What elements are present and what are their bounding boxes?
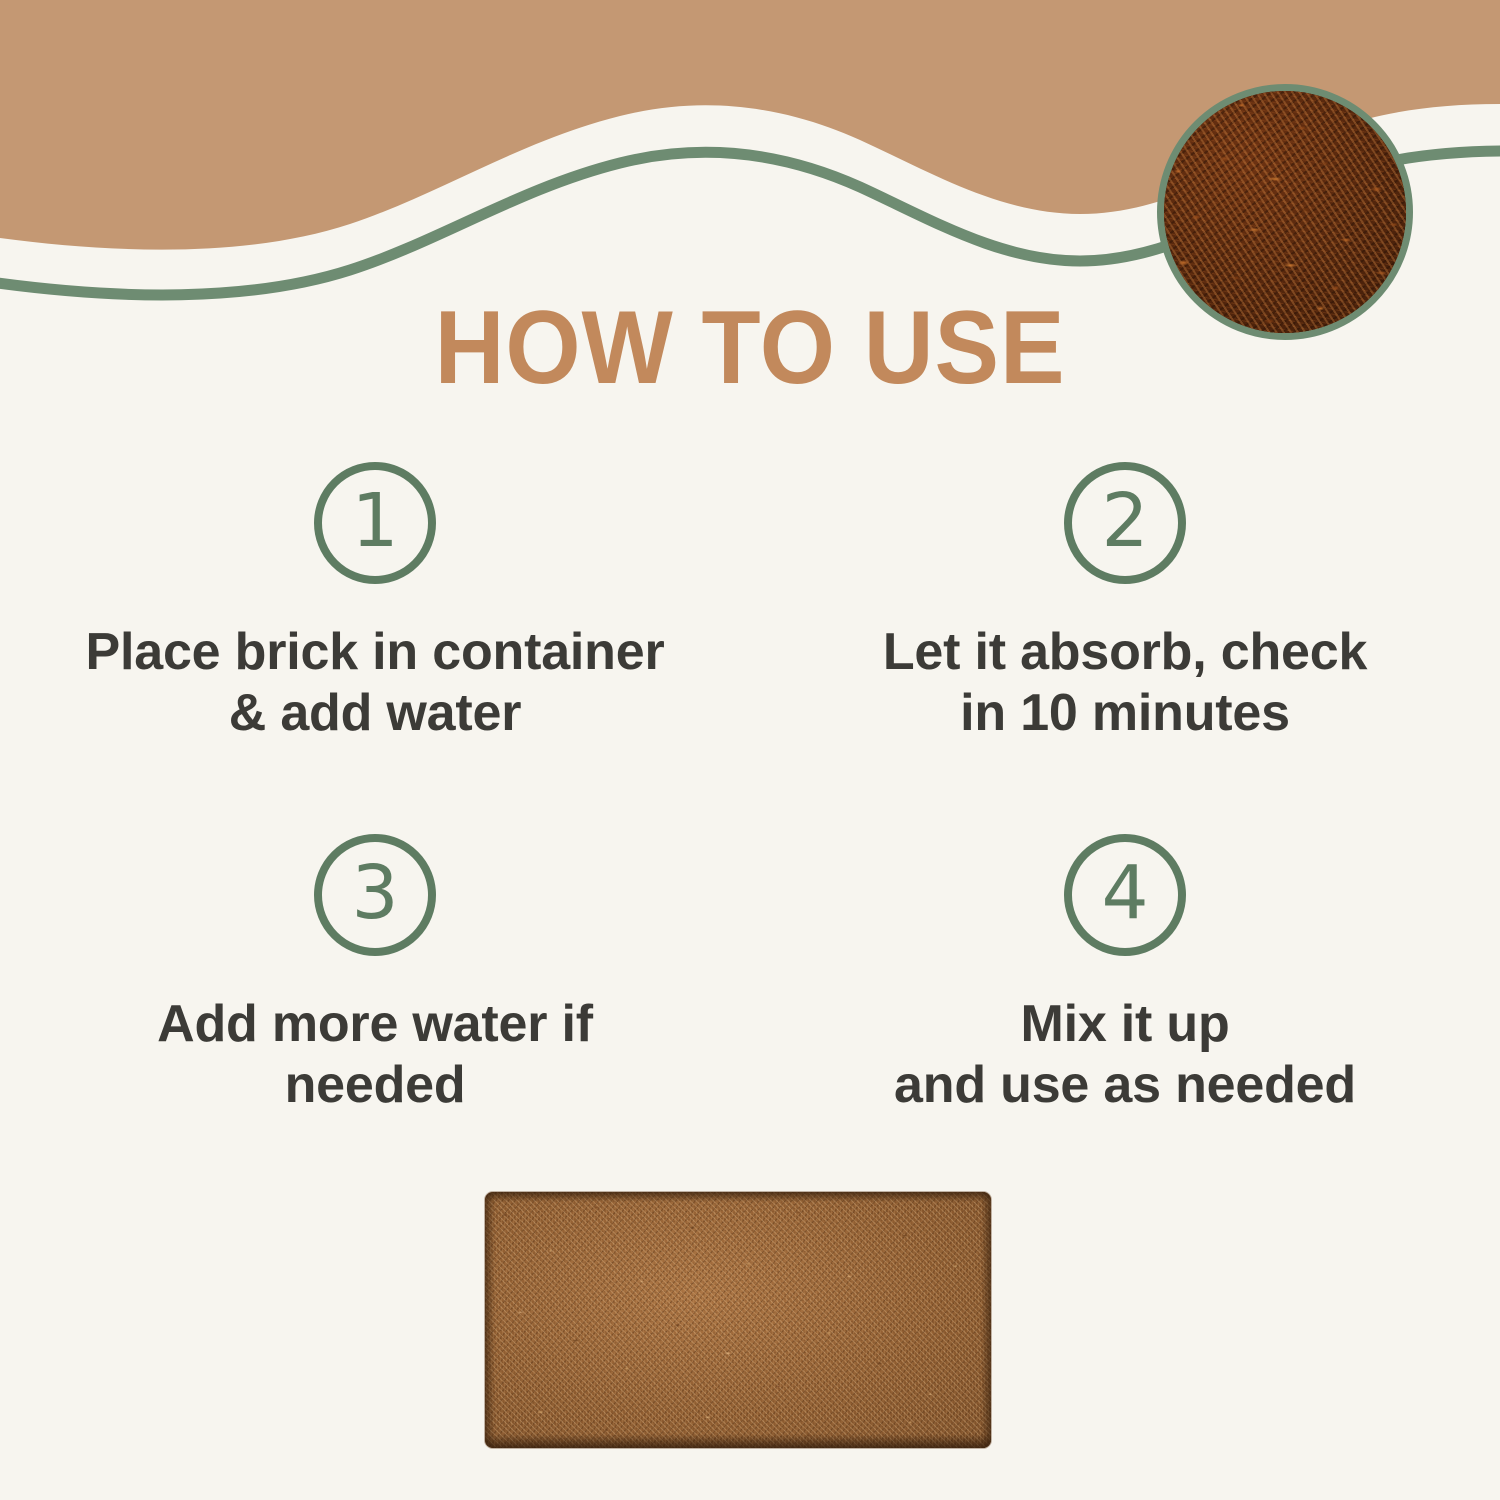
how-to-use-infographic: HOW TO USE 1 Place brick in container & … [0, 0, 1500, 1500]
step-caption-3: Add more water if needed [157, 994, 593, 1116]
coir-brick-image [485, 1192, 991, 1448]
step-caption-1: Place brick in container & add water [86, 622, 665, 744]
step-caption-2: Let it absorb, check in 10 minutes [883, 622, 1367, 744]
coir-brick-texture [485, 1192, 991, 1448]
step-number-badge-2: 2 [1064, 462, 1186, 584]
step-1: 1 Place brick in container & add water [0, 462, 750, 834]
brick-edge-bottom [485, 1434, 991, 1448]
brick-edge-left [485, 1192, 495, 1448]
brick-edge-top [485, 1192, 991, 1202]
step-4: 4 Mix it up and use as needed [750, 834, 1500, 1206]
step-number-badge-1: 1 [314, 462, 436, 584]
step-number-badge-3: 3 [314, 834, 436, 956]
step-number-badge-4: 4 [1064, 834, 1186, 956]
brick-edge-right [981, 1192, 991, 1448]
steps-grid: 1 Place brick in container & add water 2… [0, 462, 1500, 1206]
step-2: 2 Let it absorb, check in 10 minutes [750, 462, 1500, 834]
step-3: 3 Add more water if needed [0, 834, 750, 1206]
step-caption-4: Mix it up and use as needed [894, 994, 1356, 1116]
page-title: HOW TO USE [53, 296, 1448, 400]
